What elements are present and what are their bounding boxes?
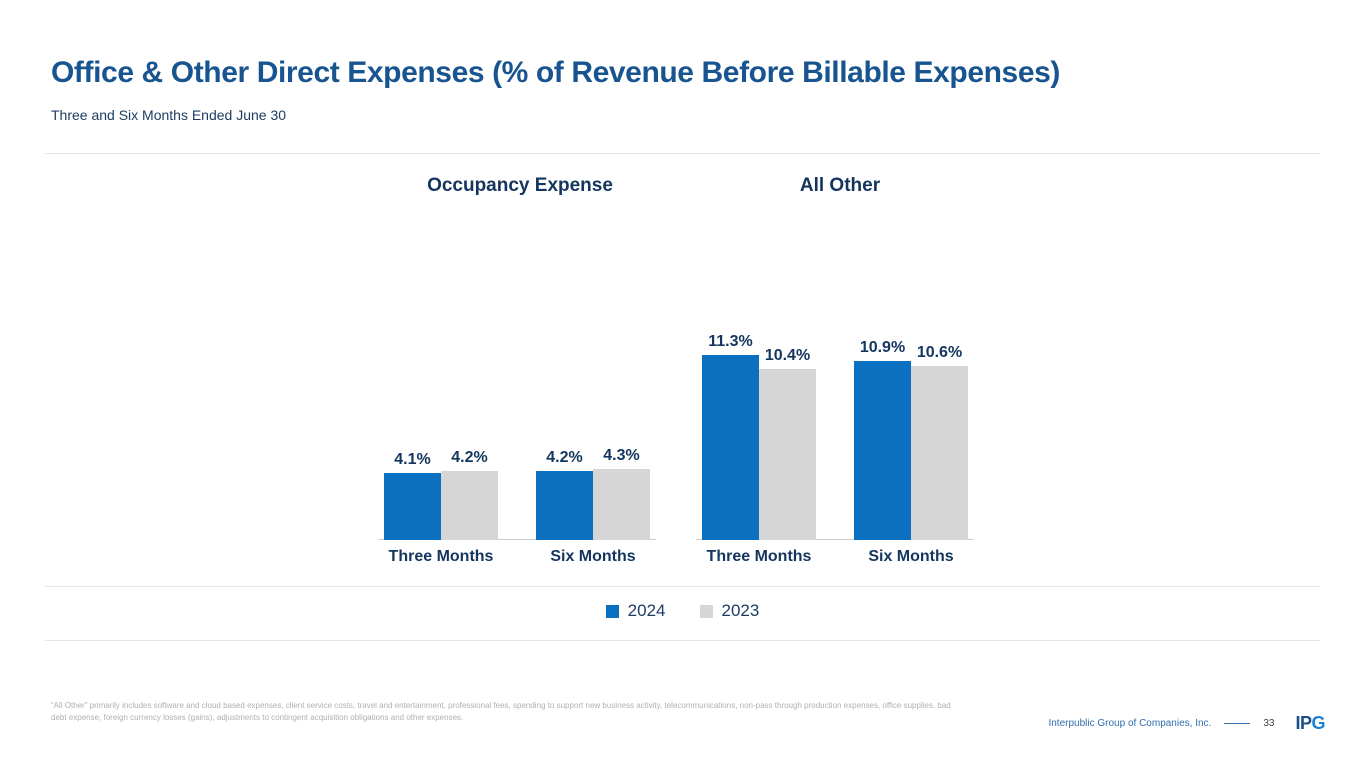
bar-pair: 10.9%10.6% <box>854 361 968 540</box>
legend-label-2024: 2024 <box>628 601 666 621</box>
footnote-text: “All Other” primarily includes software … <box>51 700 956 723</box>
bar-2024-six-months[interactable]: 4.2% <box>536 471 593 540</box>
bar-value-label: 4.1% <box>394 451 430 469</box>
bar-group: 10.9%10.6%Six Months <box>854 170 968 540</box>
category-label: Three Months <box>384 548 498 566</box>
category-label: Six Months <box>536 548 650 566</box>
page-subtitle: Three and Six Months Ended June 30 <box>51 107 286 123</box>
bar-pair: 4.1%4.2% <box>384 471 498 540</box>
legend-swatch-icon-2024 <box>606 605 619 618</box>
bar-2023-three-months[interactable]: 4.2% <box>441 471 498 540</box>
legend-item-2023[interactable]: 2023 <box>700 601 760 621</box>
bar-group: 4.2%4.3%Six Months <box>536 170 650 540</box>
bar-value-label: 10.9% <box>860 339 905 357</box>
legend-label-2023: 2023 <box>722 601 760 621</box>
logo-text-g: G <box>1311 713 1325 733</box>
bar-value-label: 10.4% <box>765 347 810 365</box>
header-divider <box>45 153 1320 154</box>
bar-value-label: 11.3% <box>708 333 752 351</box>
bar-group: 11.3%10.4%Three Months <box>702 170 816 540</box>
legend-swatch-icon-2023 <box>700 605 713 618</box>
bar-value-label: 10.6% <box>917 344 962 362</box>
slide-footer: Interpublic Group of Companies, Inc. 33 … <box>1048 714 1325 732</box>
page-number: 33 <box>1263 718 1274 729</box>
bar-value-label: 4.3% <box>603 447 639 465</box>
slide: Office & Other Direct Expenses (% of Rev… <box>0 0 1365 768</box>
bar-2023-three-months[interactable]: 10.4% <box>759 369 816 540</box>
legend-item-2024[interactable]: 2024 <box>606 601 666 621</box>
footer-company-name: Interpublic Group of Companies, Inc. <box>1048 718 1211 729</box>
chart-all-other: All Other 11.3%10.4%Three Months10.9%10.… <box>660 170 1060 570</box>
ipg-logo: IPG <box>1295 714 1325 732</box>
category-label: Three Months <box>702 548 816 566</box>
footer-dash-divider <box>1224 723 1250 724</box>
bar-value-label: 4.2% <box>546 449 582 467</box>
plot-area-all-other: 11.3%10.4%Three Months10.9%10.6%Six Mont… <box>660 170 1060 540</box>
bar-2023-six-months[interactable]: 4.3% <box>593 469 650 540</box>
logo-text-ip: IP <box>1295 713 1311 733</box>
category-label: Six Months <box>854 548 968 566</box>
bar-group: 4.1%4.2%Three Months <box>384 170 498 540</box>
bar-value-label: 4.2% <box>451 449 487 467</box>
legend-divider-top <box>45 586 1320 587</box>
bar-pair: 11.3%10.4% <box>702 355 816 540</box>
bar-pair: 4.2%4.3% <box>536 469 650 540</box>
bar-2024-six-months[interactable]: 10.9% <box>854 361 911 540</box>
legend-divider-bottom <box>45 640 1320 641</box>
bar-2023-six-months[interactable]: 10.6% <box>911 366 968 540</box>
chart-legend: 2024 2023 <box>0 601 1365 621</box>
bar-2024-three-months[interactable]: 11.3% <box>702 355 759 540</box>
page-title: Office & Other Direct Expenses (% of Rev… <box>51 56 1060 90</box>
bar-2024-three-months[interactable]: 4.1% <box>384 473 441 540</box>
